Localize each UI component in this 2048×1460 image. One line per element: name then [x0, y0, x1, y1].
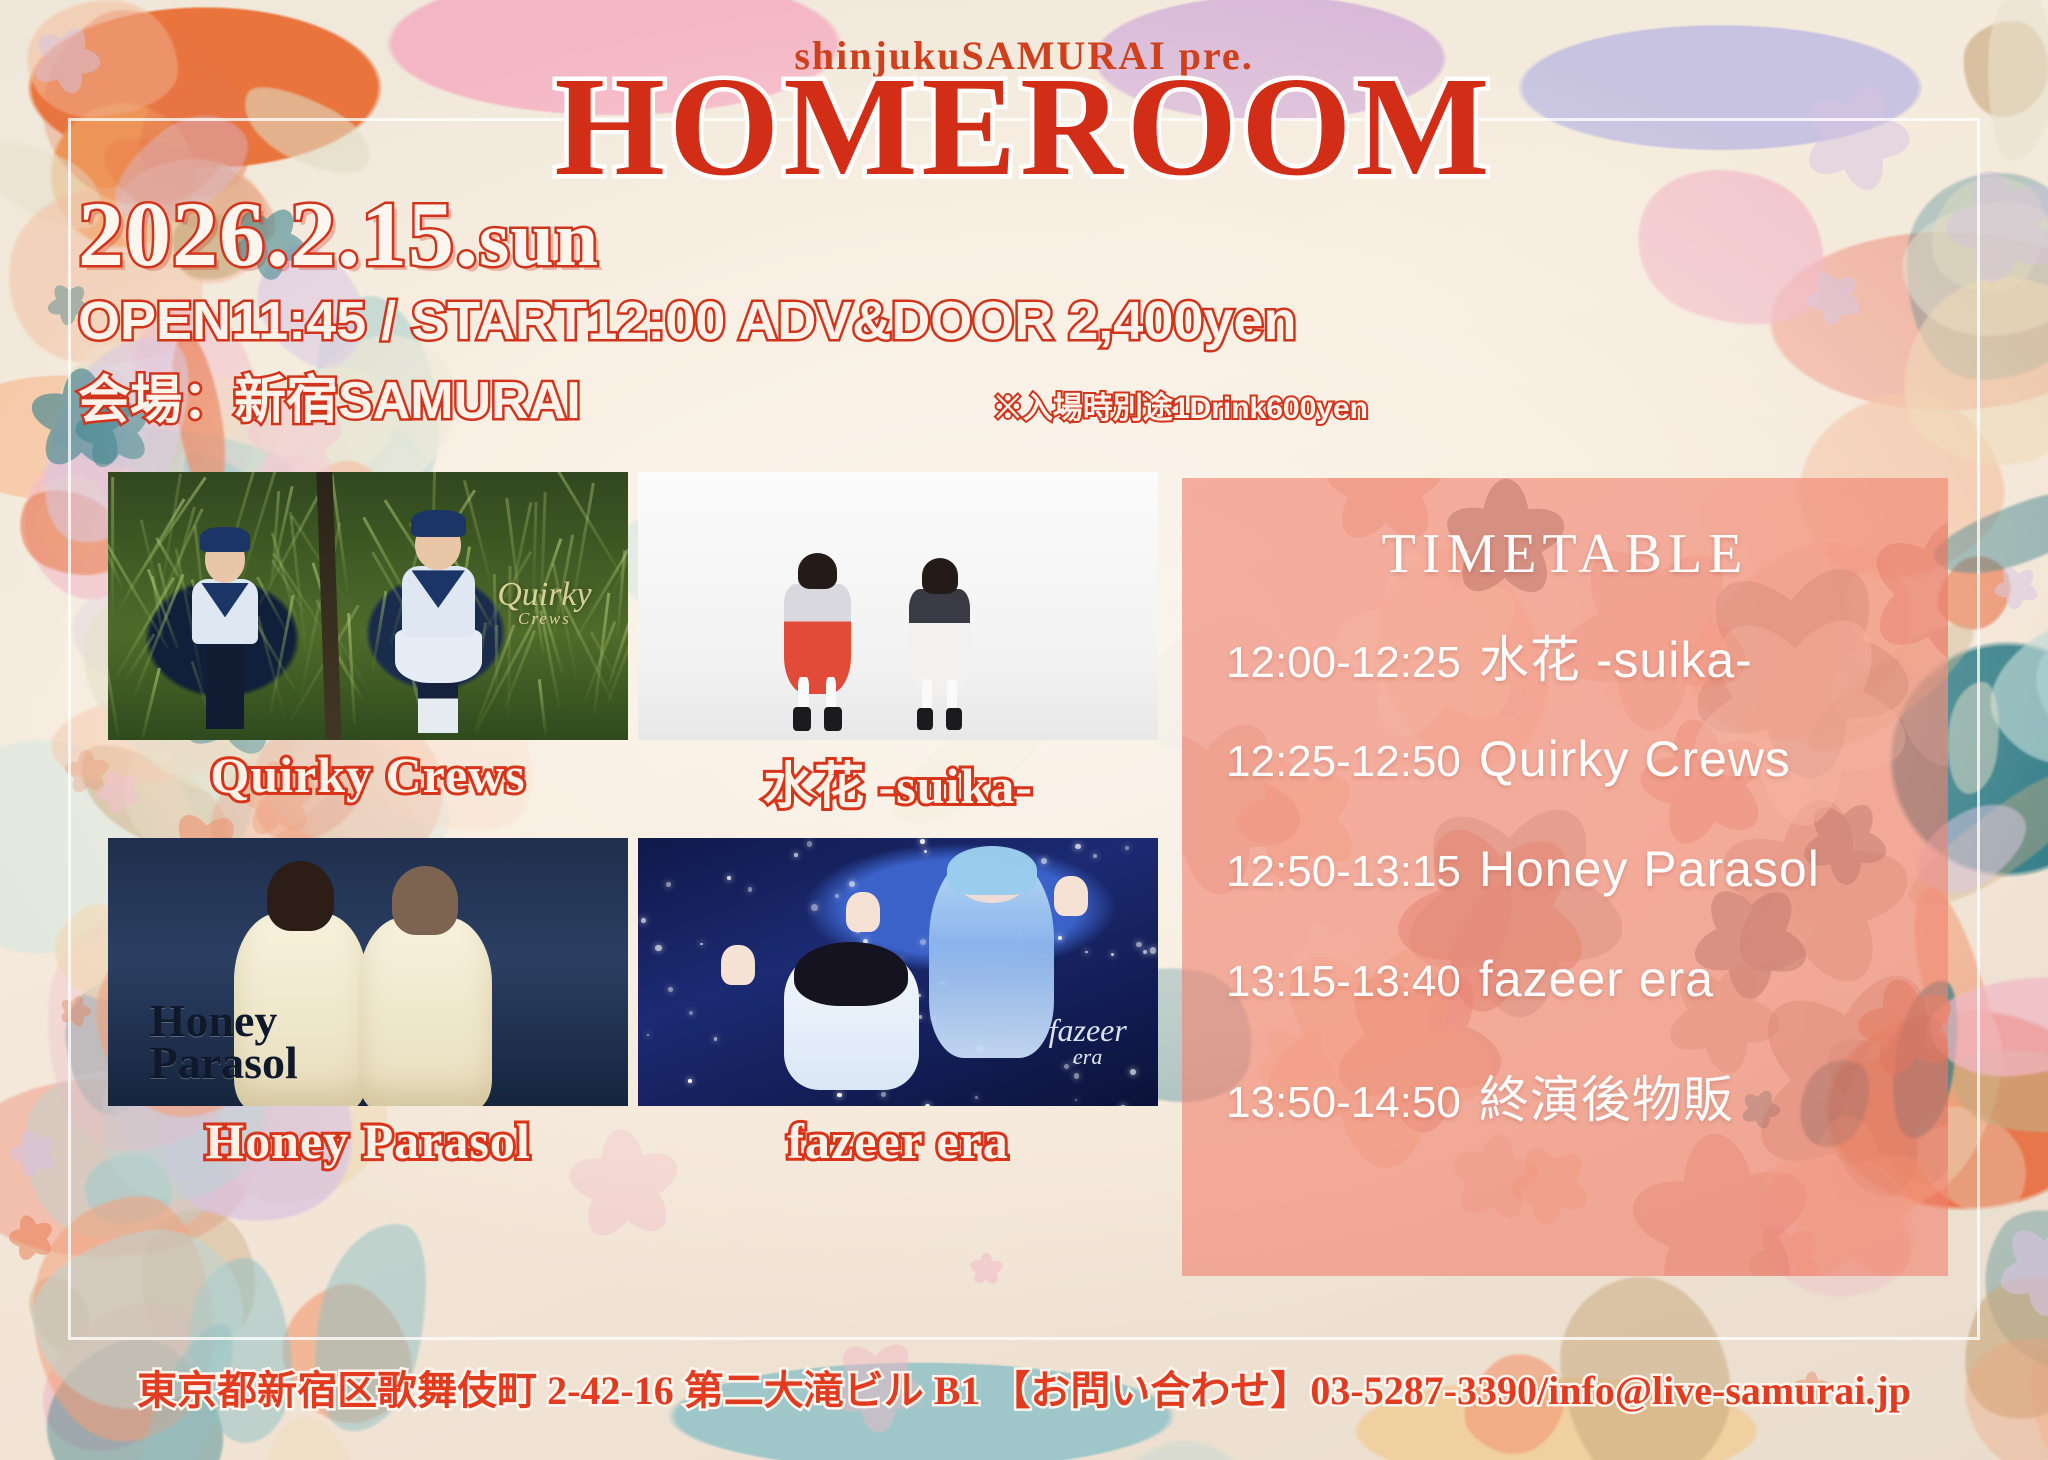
star-shape — [1136, 942, 1142, 948]
star-shape — [1075, 1099, 1077, 1101]
star-shape — [835, 894, 839, 898]
member-boot-shape — [793, 707, 811, 730]
footer-contact: 東京都新宿区歌舞伎町 2-42-16 第二大滝ビル B1 【お問い合わせ】03-… — [0, 1358, 2048, 1416]
photo-watermark-main: Quirky — [497, 576, 591, 613]
star-shape — [919, 1015, 923, 1019]
member-hair-shape — [267, 861, 333, 932]
star-shape — [794, 853, 798, 857]
star-shape — [647, 1034, 649, 1036]
timetable-row-act: Quirky Crews — [1479, 730, 1791, 788]
star-shape — [700, 943, 703, 946]
star-shape — [975, 1096, 978, 1099]
character-hand-shape — [846, 892, 880, 932]
timetable-row: 13:15-13:40fazeer era — [1226, 950, 1948, 1060]
star-shape — [727, 876, 730, 879]
star-shape — [1085, 951, 1088, 954]
star-shape — [1041, 858, 1047, 864]
star-shape — [924, 850, 927, 853]
timetable-row-time: 12:25-12:50 — [1226, 737, 1461, 787]
member-figure — [784, 558, 852, 724]
star-shape — [688, 1079, 692, 1083]
star-shape — [714, 1037, 718, 1041]
timetable-row: 13:50-14:50終演後物販 — [1226, 1060, 1948, 1170]
timetable-row: 12:25-12:50Quirky Crews — [1226, 730, 1948, 840]
member-figure — [181, 536, 269, 729]
member-dress-shape — [359, 917, 492, 1106]
event-weekday: sun — [479, 195, 599, 282]
page-title: HOMEROOM — [0, 52, 2048, 201]
star-shape — [849, 881, 855, 887]
character-hair-shape — [794, 942, 908, 1006]
character-hair-shape — [947, 846, 1037, 895]
timetable-row-act: Honey Parasol — [1479, 840, 1820, 898]
artist-photo-suika — [638, 472, 1158, 740]
artist-name-label: 水花 -suika- — [638, 746, 1158, 818]
star-shape — [837, 1093, 842, 1098]
member-hair-shape — [798, 553, 837, 590]
star-shape — [689, 1011, 693, 1015]
star-shape — [1075, 844, 1080, 849]
timetable-row-time: 13:50-14:50 — [1226, 1078, 1461, 1128]
member-figure — [389, 520, 488, 729]
event-date-value: 2026.2.15. — [78, 183, 479, 285]
star-shape — [1143, 950, 1147, 954]
timetable-row-act: 水花 -suika- — [1479, 620, 1753, 692]
member-hair-shape — [922, 558, 958, 593]
star-shape — [1111, 953, 1114, 956]
member-boot-shape — [917, 708, 933, 731]
timetable-row-act: fazeer era — [1479, 950, 1714, 1008]
star-shape — [811, 904, 818, 911]
event-date: 2026.2.15.sun — [78, 188, 1368, 280]
member-skirt-shape — [395, 629, 482, 683]
grass-blade — [537, 679, 546, 734]
star-shape — [920, 839, 925, 844]
artist-cell-suika: 水花 -suika- — [638, 472, 1158, 818]
photo-watermark: Quirky Crews — [497, 579, 591, 627]
photo-watermark-sub: Parasol — [150, 1037, 298, 1088]
artist-name-label: Quirky Crews — [108, 746, 628, 804]
star-shape — [666, 882, 671, 887]
drink-note: ※入場時別途1Drink600yen — [993, 383, 1368, 433]
photo-watermark: Honey Parasol — [150, 1000, 298, 1085]
artist-name-label: Honey Parasol — [108, 1112, 628, 1170]
member-hat-shape — [200, 527, 249, 552]
star-shape — [807, 841, 813, 847]
event-venue: 会場：新宿SAMURAI — [78, 358, 581, 433]
photo-watermark: fazeer era — [1049, 1014, 1127, 1068]
artist-cell-honey-parasol: Honey Parasol Honey Parasol — [108, 838, 628, 1170]
timetable-list: 12:00-12:25水花 -suika-12:25-12:50Quirky C… — [1182, 620, 1948, 1170]
member-boot-shape — [946, 708, 962, 731]
star-shape — [641, 918, 646, 923]
photo-watermark-sub: Crews — [497, 611, 591, 627]
timetable-row-time: 12:50-13:15 — [1226, 847, 1461, 897]
artist-cell-quirky-crews: Quirky Crews Quirky Crews — [108, 472, 628, 818]
grass-blade — [371, 591, 387, 671]
artist-photo-quirky-crews: Quirky Crews — [108, 472, 628, 740]
artist-row: Honey Parasol Honey Parasol — [108, 838, 1160, 1170]
artist-photo-fazeer-era: fazeer era — [638, 838, 1158, 1106]
member-pants-shape — [206, 637, 245, 730]
timetable-row: 12:50-13:15Honey Parasol — [1226, 840, 1948, 950]
artist-cell-fazeer-era: fazeer era fazeer era — [638, 838, 1158, 1170]
photo-watermark-main: fazeer — [1049, 1012, 1127, 1048]
timetable-row-time: 13:15-13:40 — [1226, 957, 1461, 1007]
illustration-character — [929, 854, 1054, 1058]
grass-blade — [141, 668, 161, 738]
artist-row: Quirky Crews Quirky Crews — [108, 472, 1160, 818]
artist-photo-honey-parasol: Honey Parasol — [108, 838, 628, 1106]
member-hair-shape — [392, 866, 458, 935]
character-hand-shape — [1054, 876, 1088, 916]
grass-blade — [111, 477, 114, 616]
event-flyer: shinjukuSAMURAI pre. HOMEROOM 2026.2.15.… — [0, 0, 2048, 1460]
star-shape — [1125, 846, 1129, 850]
event-times: OPEN11:45 / START12:00 ADV&DOOR 2,400yen — [78, 290, 1368, 352]
timetable-row-time: 12:00-12:25 — [1226, 638, 1461, 688]
star-shape — [920, 939, 926, 945]
character-hand-shape — [721, 945, 755, 985]
star-shape — [881, 1092, 887, 1098]
artist-name-label: fazeer era — [638, 1112, 1158, 1170]
star-shape — [655, 945, 661, 951]
timetable-title: TIMETABLE — [1182, 522, 1948, 586]
star-shape — [925, 1104, 930, 1106]
artist-grid: Quirky Crews Quirky Crews — [108, 472, 1160, 1170]
grass-blade — [108, 652, 120, 736]
member-dress-shape — [784, 584, 850, 694]
event-info: 2026.2.15.sun OPEN11:45 / START12:00 ADV… — [78, 188, 1368, 433]
timetable-row-act: 終演後物販 — [1479, 1060, 1734, 1132]
member-boot-shape — [824, 707, 842, 730]
star-shape — [1130, 1069, 1136, 1075]
photo-watermark-sub: era — [1049, 1046, 1127, 1068]
member-hat-shape — [411, 510, 466, 537]
member-figure — [368, 876, 482, 1106]
star-shape — [1058, 936, 1062, 940]
member-dress-shape — [909, 589, 970, 695]
grass-blade — [495, 625, 498, 695]
star-shape — [668, 987, 673, 992]
timetable-content: TIMETABLE 12:00-12:25水花 -suika-12:25-12:… — [1182, 478, 1948, 1170]
star-shape — [1150, 947, 1156, 953]
member-figure — [908, 563, 970, 724]
illustration-character — [784, 951, 919, 1090]
star-shape — [1120, 1105, 1126, 1106]
star-shape — [1074, 1073, 1080, 1079]
timetable-row: 12:00-12:25水花 -suika- — [1226, 620, 1948, 730]
star-shape — [748, 887, 752, 891]
venue-row: 会場：新宿SAMURAI ※入場時別途1Drink600yen — [78, 358, 1368, 433]
star-shape — [1093, 854, 1097, 858]
timetable-panel: TIMETABLE 12:00-12:25水花 -suika-12:25-12:… — [1182, 478, 1948, 1276]
